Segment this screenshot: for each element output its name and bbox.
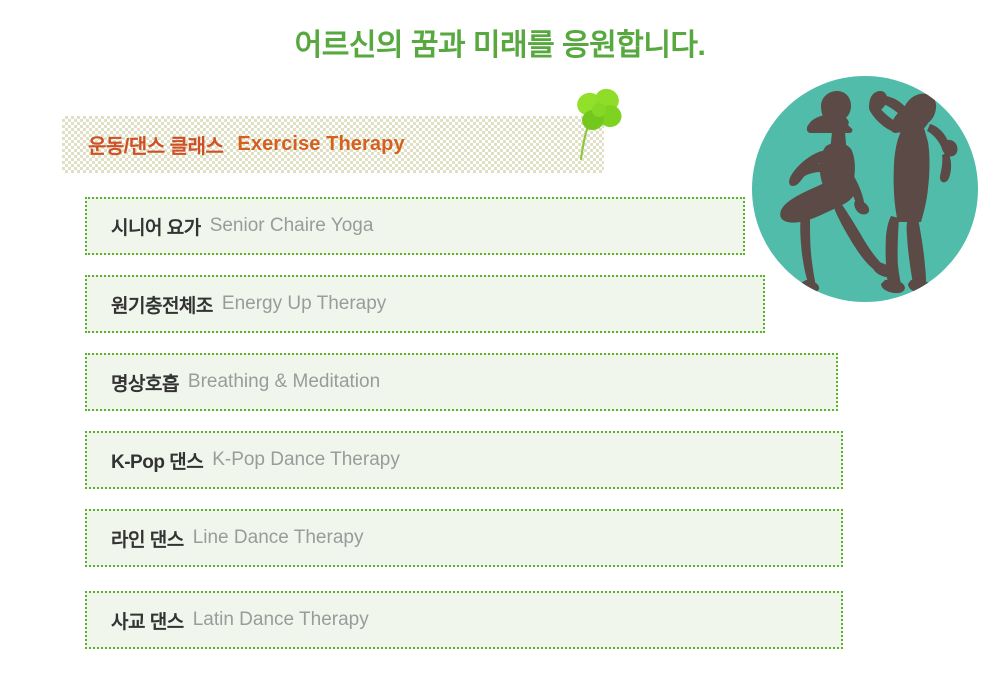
- class-item-ko-label: 사교 댄스: [111, 607, 184, 634]
- class-item-en-label: Breathing & Meditation: [188, 371, 380, 393]
- class-item-en-label: Latin Dance Therapy: [193, 609, 369, 631]
- class-list-item[interactable]: 시니어 요가 Senior Chaire Yoga: [85, 197, 745, 255]
- class-item-en-label: K-Pop Dance Therapy: [212, 449, 400, 471]
- class-item-ko-label: 시니어 요가: [111, 213, 201, 240]
- class-list-item[interactable]: 사교 댄스 Latin Dance Therapy: [85, 591, 843, 649]
- class-item-en-label: Energy Up Therapy: [222, 293, 386, 315]
- class-list-item[interactable]: 라인 댄스 Line Dance Therapy: [85, 509, 843, 567]
- class-list-item[interactable]: K-Pop 댄스 K-Pop Dance Therapy: [85, 431, 843, 489]
- class-item-en-label: Line Dance Therapy: [193, 527, 364, 549]
- class-item-ko-label: 명상호흡: [111, 369, 179, 396]
- class-item-ko-label: K-Pop 댄스: [111, 447, 203, 474]
- class-list-item[interactable]: 명상호흡 Breathing & Meditation: [85, 353, 838, 411]
- class-item-en-label: Senior Chaire Yoga: [210, 215, 374, 237]
- dancing-couple-silhouette-icon: [752, 76, 978, 302]
- class-list-item[interactable]: 원기충전체조 Energy Up Therapy: [85, 275, 765, 333]
- class-item-ko-label: 원기충전체조: [111, 291, 213, 318]
- class-item-ko-label: 라인 댄스: [111, 525, 184, 552]
